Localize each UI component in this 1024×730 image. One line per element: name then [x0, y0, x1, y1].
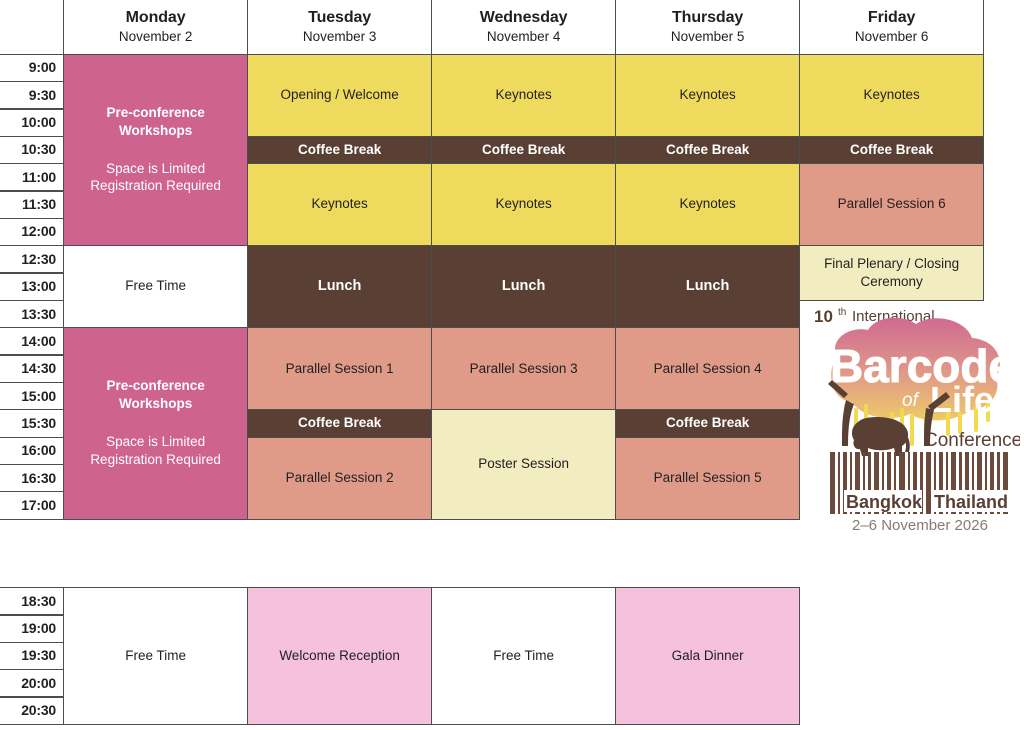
- day-header-monday: Monday November 2: [63, 0, 248, 55]
- session-title: Lunch: [686, 278, 730, 296]
- time-label: 15:30: [0, 409, 64, 437]
- session-wednesday-parallel-session-3[interactable]: Parallel Session 3: [431, 327, 616, 410]
- session-title: Keynotes: [679, 87, 735, 103]
- day-date: November 6: [855, 29, 929, 45]
- session-tuesday-coffee-break-afternoon[interactable]: Coffee Break: [247, 409, 432, 437]
- session-thursday-gala-dinner[interactable]: Gala Dinner: [615, 587, 800, 725]
- session-friday-parallel-session-6[interactable]: Parallel Session 6: [799, 163, 984, 246]
- session-title-line2: Workshops: [119, 123, 192, 139]
- session-title-line1: Final Plenary / Closing: [824, 256, 959, 272]
- session-title: Keynotes: [679, 196, 735, 212]
- session-thursday-parallel-session-4[interactable]: Parallel Session 4: [615, 327, 800, 410]
- session-title: Parallel Session 5: [654, 470, 762, 486]
- session-title: Keynotes: [311, 196, 367, 212]
- session-wednesday-coffee-break-morning[interactable]: Coffee Break: [431, 136, 616, 164]
- logo-ordinal-number: 10: [814, 307, 833, 326]
- session-monday-free-time[interactable]: Free Time: [63, 245, 248, 328]
- logo-title-of: of: [902, 390, 920, 411]
- session-wednesday-keynotes-late-morning[interactable]: Keynotes: [431, 163, 616, 246]
- day-date: November 5: [671, 29, 745, 45]
- session-monday-evening-free-time[interactable]: Free Time: [63, 587, 248, 725]
- time-label: 20:30: [0, 697, 64, 725]
- session-title: Parallel Session 2: [286, 470, 394, 486]
- session-title: Free Time: [125, 278, 186, 294]
- day-date: November 4: [487, 29, 561, 45]
- time-label: 16:30: [0, 464, 64, 492]
- session-friday-keynotes[interactable]: Keynotes: [799, 54, 984, 137]
- session-thursday-keynotes-late-morning[interactable]: Keynotes: [615, 163, 800, 246]
- session-title: Keynotes: [863, 87, 919, 103]
- logo-country-label: Thailand: [934, 492, 1008, 512]
- time-label: 12:00: [0, 218, 64, 246]
- session-title: Parallel Session 6: [838, 196, 946, 212]
- session-tuesday-lunch[interactable]: Lunch: [247, 245, 432, 328]
- logo-city-label: Bangkok: [846, 492, 923, 512]
- barcode-of-life-logo-graphic: 10 th International Barcode of Life: [806, 304, 1020, 536]
- schedule-grid-evening: 18:30 19:00 19:30 20:00 20:30 Free Time …: [0, 588, 800, 725]
- session-wednesday-lunch[interactable]: Lunch: [431, 245, 616, 328]
- session-thursday-coffee-break-afternoon[interactable]: Coffee Break: [615, 409, 800, 437]
- time-label: 16:00: [0, 437, 64, 465]
- session-note-line2: Registration Required: [90, 452, 221, 468]
- session-title: Parallel Session 3: [470, 361, 578, 377]
- session-title: Parallel Session 4: [654, 361, 762, 377]
- day-name: Friday: [868, 8, 915, 28]
- session-title: Coffee Break: [850, 142, 933, 158]
- session-title: Coffee Break: [666, 142, 749, 158]
- session-wednesday-keynotes-morning[interactable]: Keynotes: [431, 54, 616, 137]
- session-title: Keynotes: [495, 87, 551, 103]
- session-title: Lunch: [502, 278, 546, 296]
- session-title: Lunch: [318, 278, 362, 296]
- session-monday-preconference-workshops[interactable]: Pre-conference Workshops Space is Limite…: [63, 54, 248, 246]
- session-title: Coffee Break: [298, 142, 381, 158]
- session-title: Parallel Session 1: [286, 361, 394, 377]
- session-title-line1: Pre-conference: [106, 105, 204, 121]
- session-title: Welcome Reception: [279, 648, 400, 664]
- time-label: 19:30: [0, 642, 64, 670]
- session-tuesday-keynotes[interactable]: Keynotes: [247, 163, 432, 246]
- session-note-line1: Space is Limited: [106, 434, 205, 450]
- session-wednesday-evening-free-time[interactable]: Free Time: [431, 587, 616, 725]
- session-title: Coffee Break: [482, 142, 565, 158]
- session-title-line2: Ceremony: [860, 274, 922, 290]
- session-monday-preconference-workshops-afternoon[interactable]: Pre-conference Workshops Space is Limite…: [63, 327, 248, 519]
- day-date: November 3: [303, 29, 377, 45]
- time-label: 18:30: [0, 587, 64, 615]
- time-label: 10:30: [0, 136, 64, 164]
- session-title: Coffee Break: [666, 415, 749, 431]
- time-label: 12:30: [0, 245, 64, 273]
- conference-logo: 10 th International Barcode of Life: [806, 304, 1020, 536]
- logo-tree-trunk-left: [842, 400, 854, 446]
- time-label: 19:00: [0, 615, 64, 643]
- session-title-line2: Workshops: [119, 396, 192, 412]
- day-name: Monday: [126, 8, 186, 28]
- time-column-header: [0, 0, 64, 55]
- session-tuesday-coffee-break-morning[interactable]: Coffee Break: [247, 136, 432, 164]
- time-label: 14:30: [0, 355, 64, 383]
- time-label: 15:00: [0, 382, 64, 410]
- logo-dates-label: 2–6 November 2026: [852, 517, 988, 534]
- session-thursday-lunch[interactable]: Lunch: [615, 245, 800, 328]
- session-title: Keynotes: [495, 196, 551, 212]
- session-tuesday-opening-welcome[interactable]: Opening / Welcome: [247, 54, 432, 137]
- session-tuesday-welcome-reception[interactable]: Welcome Reception: [247, 587, 432, 725]
- time-label: 11:30: [0, 191, 64, 219]
- time-label: 9:30: [0, 81, 64, 109]
- day-header-wednesday: Wednesday November 4: [431, 0, 616, 55]
- session-title: Free Time: [125, 648, 186, 664]
- logo-conference-label: Conference: [924, 430, 1020, 451]
- time-label: 17:00: [0, 491, 64, 519]
- day-name: Thursday: [672, 8, 743, 28]
- session-wednesday-poster-session[interactable]: Poster Session: [431, 409, 616, 519]
- session-title: Coffee Break: [298, 415, 381, 431]
- session-title: Free Time: [493, 648, 554, 664]
- session-thursday-parallel-session-5[interactable]: Parallel Session 5: [615, 437, 800, 520]
- session-tuesday-parallel-session-1[interactable]: Parallel Session 1: [247, 327, 432, 410]
- day-header-friday: Friday November 6: [799, 0, 984, 55]
- time-label: 13:30: [0, 300, 64, 328]
- session-friday-final-plenary-closing-ceremony[interactable]: Final Plenary / Closing Ceremony: [799, 245, 984, 300]
- session-note-line2: Registration Required: [90, 178, 221, 194]
- session-title: Opening / Welcome: [280, 87, 398, 103]
- time-label: 14:00: [0, 327, 64, 355]
- time-label: 20:00: [0, 669, 64, 697]
- day-header-thursday: Thursday November 5: [615, 0, 800, 55]
- logo-ordinal-suffix: th: [838, 307, 846, 318]
- time-label: 9:00: [0, 54, 64, 82]
- session-friday-coffee-break[interactable]: Coffee Break: [799, 136, 984, 164]
- day-header-tuesday: Tuesday November 3: [247, 0, 432, 55]
- session-thursday-keynotes-morning[interactable]: Keynotes: [615, 54, 800, 137]
- session-title: Poster Session: [478, 456, 569, 472]
- session-title: Gala Dinner: [672, 648, 744, 664]
- day-name: Wednesday: [480, 8, 568, 28]
- time-label: 13:00: [0, 273, 64, 301]
- time-label: 11:00: [0, 163, 64, 191]
- session-thursday-coffee-break-morning[interactable]: Coffee Break: [615, 136, 800, 164]
- day-name: Tuesday: [308, 8, 371, 28]
- session-tuesday-parallel-session-2[interactable]: Parallel Session 2: [247, 437, 432, 520]
- time-label: 10:00: [0, 109, 64, 137]
- session-note-line1: Space is Limited: [106, 161, 205, 177]
- day-date: November 2: [119, 29, 193, 45]
- session-title-line1: Pre-conference: [106, 378, 204, 394]
